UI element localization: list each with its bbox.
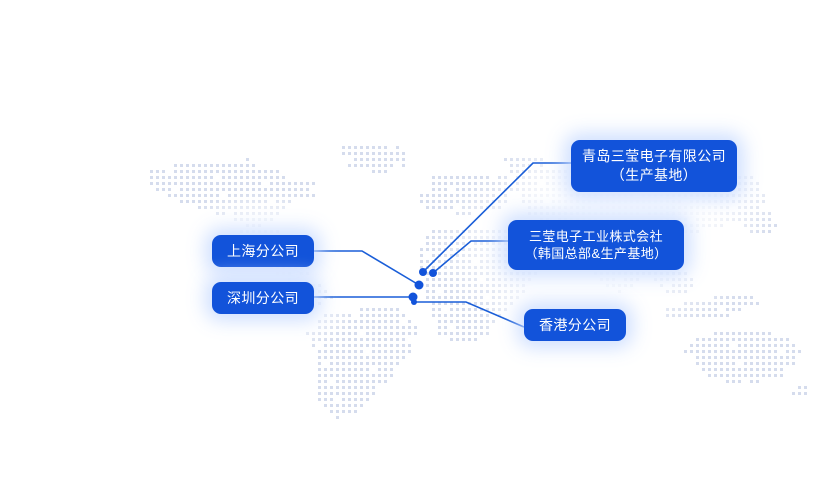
callout-hongkong[interactable]: 香港分公司 (524, 309, 626, 341)
callout-korea-line1: 三莹电子工业株式会社 (529, 228, 663, 245)
callout-shanghai-label: 上海分公司 (227, 242, 299, 261)
callout-shenzhen-label: 深圳分公司 (227, 289, 299, 308)
callout-korea-line2: （韩国总部&生产基地） (524, 245, 667, 262)
map-infographic: 青岛三莹电子有限公司 （生产基地） 三莹电子工业株式会社 （韩国总部&生产基地）… (0, 0, 824, 480)
callout-qingdao[interactable]: 青岛三莹电子有限公司 （生产基地） (571, 140, 737, 192)
callout-hongkong-label: 香港分公司 (539, 316, 611, 335)
world-map (0, 0, 824, 480)
callout-shenzhen[interactable]: 深圳分公司 (212, 282, 314, 314)
callout-shanghai[interactable]: 上海分公司 (212, 235, 314, 267)
callout-qingdao-line2: （生产基地） (611, 166, 697, 185)
callout-korea-hq[interactable]: 三莹电子工业株式会社 （韩国总部&生产基地） (508, 220, 684, 270)
callout-qingdao-line1: 青岛三莹电子有限公司 (582, 147, 726, 166)
